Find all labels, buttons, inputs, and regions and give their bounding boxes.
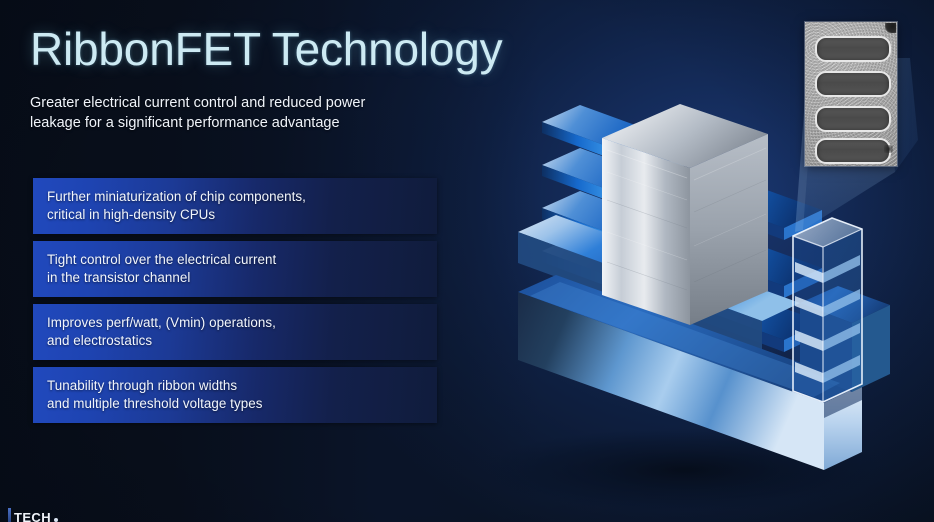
slide-root: RibbonFET Technology Greater electrical … <box>0 0 934 522</box>
bullet-line: in the transistor channel <box>47 269 423 288</box>
page-subtitle: Greater electrical current control and r… <box>30 94 370 133</box>
bullet-line: and electrostatics <box>47 332 423 351</box>
bullet-card[interactable]: Improves perf/watt, (Vmin) operations, a… <box>33 304 437 360</box>
logo-text: TECH <box>14 511 51 522</box>
bullet-line: Improves perf/watt, (Vmin) operations, <box>47 314 423 333</box>
bullet-list: Further miniaturization of chip componen… <box>33 178 437 430</box>
bullet-card[interactable]: Tight control over the electrical curren… <box>33 241 437 297</box>
bullet-line: critical in high-density CPUs <box>47 206 423 225</box>
micrograph-ribbon <box>815 138 891 164</box>
micrograph-ribbon <box>815 71 891 97</box>
highlighted-cross-section <box>793 218 862 402</box>
micrograph-ribbon <box>815 106 891 132</box>
bullet-line: Tunability through ribbon widths <box>47 377 423 396</box>
logo-dot-icon <box>54 518 58 522</box>
logo-bar-icon <box>8 508 11 522</box>
tech-wordmark: TECH <box>8 508 58 522</box>
bullet-line: and multiple threshold voltage types <box>47 395 423 414</box>
micrograph-dark-speck <box>885 23 896 33</box>
micrograph-dark-speck <box>884 145 893 153</box>
bullet-card[interactable]: Tunability through ribbon widths and mul… <box>33 367 437 423</box>
bullet-line: Tight control over the electrical curren… <box>47 251 423 270</box>
page-title: RibbonFET Technology <box>30 22 503 76</box>
gate-electrode <box>602 104 768 325</box>
bullet-line: Further miniaturization of chip componen… <box>47 188 423 207</box>
bullet-card[interactable]: Further miniaturization of chip componen… <box>33 178 437 234</box>
tem-micrograph-inset <box>805 22 897 166</box>
micrograph-ribbon <box>815 36 891 62</box>
